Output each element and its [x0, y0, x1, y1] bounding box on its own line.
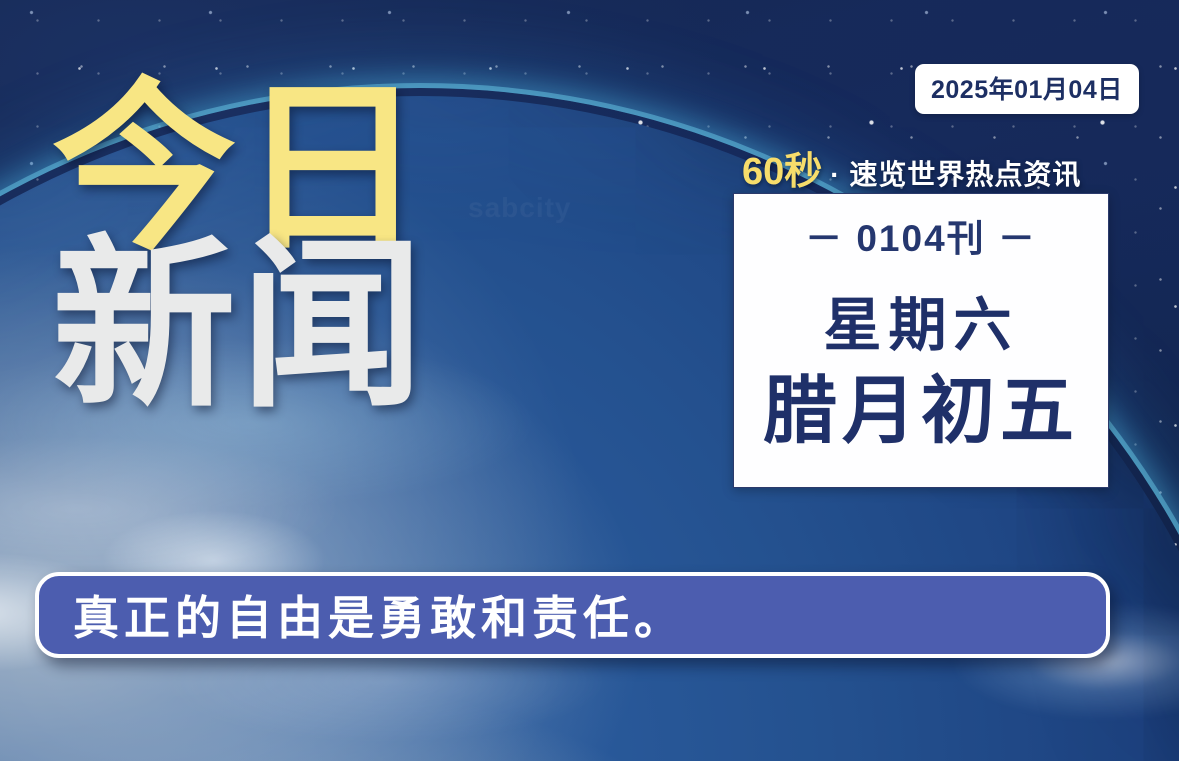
date-badge: 2025年01月04日 [915, 64, 1139, 114]
quote-text: 真正的自由是勇敢和责任。 [73, 582, 685, 648]
watermark: sabcity [468, 192, 572, 224]
lunar-date-label: 腊月初五 [763, 374, 1079, 448]
news-poster: sabcity 今日 新闻 2025年01月04日 60秒 · 速览世界热点资讯… [0, 0, 1179, 761]
issue-number: － 0104刊 － [805, 208, 1037, 262]
page-title: 今日 新闻 [52, 84, 428, 412]
tagline-highlight: 60秒 [742, 140, 822, 195]
tagline-rest: · 速览世界热点资讯 [830, 153, 1081, 193]
page-title-line-2: 新闻 [52, 241, 428, 412]
date-info-card: － 0104刊 － 星期六 腊月初五 [733, 193, 1109, 488]
quote-bar: 真正的自由是勇敢和责任。 [35, 572, 1110, 658]
tagline: 60秒 · 速览世界热点资讯 [742, 140, 1081, 195]
weekday-label: 星期六 [823, 278, 1018, 362]
